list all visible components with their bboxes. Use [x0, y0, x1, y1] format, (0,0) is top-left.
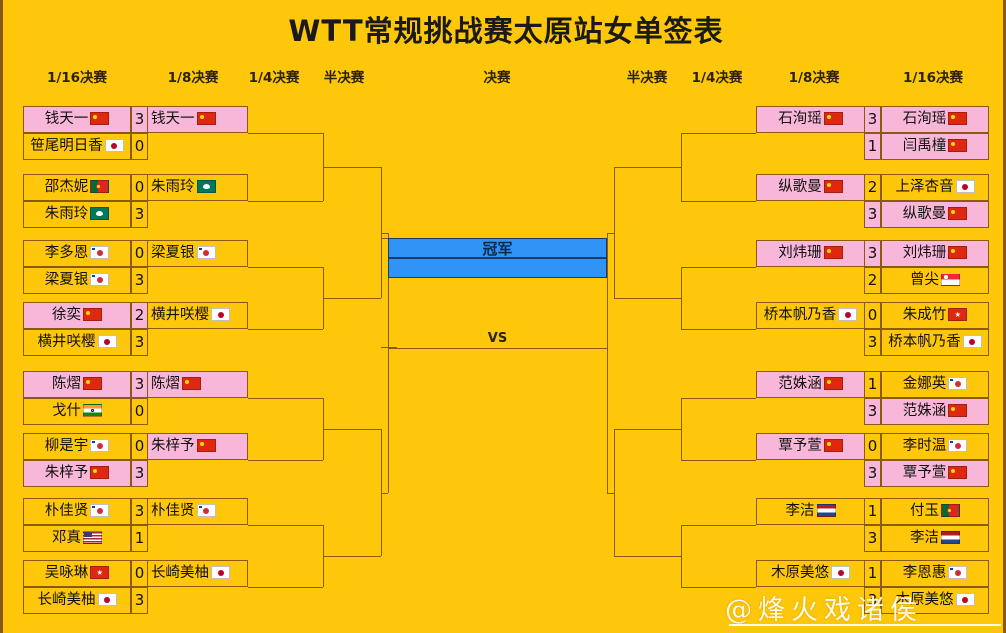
right-qf-stem-bot-2 [681, 460, 756, 461]
right-r16-player[interactable]: 范姝涵 [881, 398, 989, 425]
player-name: 金娜英 [903, 377, 947, 392]
right-qf-rail-3 [681, 525, 682, 587]
watermark-underline [729, 624, 1001, 626]
flag-pt-icon [941, 504, 960, 517]
right-r16-score: 2 [864, 174, 881, 201]
right-r16-player[interactable]: 付玉 [881, 498, 989, 525]
player-name: 徐奕 [52, 308, 81, 323]
left-r16-score: 0 [131, 560, 148, 587]
flag-kr-icon [197, 246, 216, 259]
left-r8-player[interactable]: 钱天一 [148, 106, 248, 133]
left-r16-player[interactable]: 邓真 [23, 525, 131, 552]
champion-slot-top[interactable]: 冠军 [388, 238, 607, 258]
right-qf-stem-bot-0 [681, 201, 756, 202]
right-r16-player[interactable]: 金娜英 [881, 371, 989, 398]
left-qf-stem-top-1 [248, 267, 323, 268]
flag-cn-icon [90, 112, 109, 125]
left-qf-stem-bot-3 [248, 587, 323, 588]
player-name: 朱梓予 [45, 466, 89, 481]
player-name: 梁夏银 [45, 273, 89, 288]
left-r16-score: 0 [131, 433, 148, 460]
flag-cn-icon [197, 112, 216, 125]
left-r16-player[interactable]: 徐奕 [23, 302, 131, 329]
player-name: 李多恩 [45, 246, 89, 261]
player-name: 横井咲樱 [151, 308, 209, 323]
player-name: 覃予萱 [903, 466, 947, 481]
player-name: 长崎美柚 [38, 593, 96, 608]
right-r16-player[interactable]: 李洁 [881, 525, 989, 552]
left-sf-out-top [381, 233, 388, 234]
player-name: 石洵瑶 [778, 112, 822, 127]
page-title: WTT常规挑战赛太原站女单签表 [3, 8, 1006, 50]
player-name: 李洁 [910, 531, 939, 546]
player-name: 纵歌曼 [903, 207, 947, 222]
right-qf-out-1 [614, 298, 681, 299]
right-qf-stem-top-2 [681, 398, 756, 399]
player-name: 朱梓予 [151, 439, 195, 454]
flag-cn-icon [948, 404, 967, 417]
flag-jp-icon [831, 566, 850, 579]
right-r16-player[interactable]: 李时温 [881, 433, 989, 460]
right-r16-score: 0 [864, 433, 881, 460]
round-header-right-3: 1/16决赛 [903, 66, 963, 86]
flag-us-icon [83, 531, 102, 544]
player-name: 曾尖 [910, 273, 939, 288]
flag-kr-icon [197, 504, 216, 517]
round-header-right-0: 半决赛 [627, 66, 668, 86]
left-r16-score: 3 [131, 106, 148, 133]
right-r16-score: 3 [864, 329, 881, 356]
player-name: 刘炜珊 [903, 246, 947, 261]
player-name: 陈熠 [151, 377, 180, 392]
left-r16-score: 2 [131, 302, 148, 329]
player-name: 朱雨玲 [151, 180, 195, 195]
left-qf-out-2 [323, 429, 381, 430]
round-header-left-2: 1/4决赛 [249, 66, 300, 86]
flag-jp-icon [211, 308, 230, 321]
player-name: 纵歌曼 [778, 180, 822, 195]
flag-pt-icon [90, 180, 109, 193]
flag-jp-icon [963, 335, 982, 348]
right-qf-stem-top-3 [681, 525, 756, 526]
left-r8-player[interactable]: 陈熠 [148, 371, 248, 398]
left-r16-score: 3 [131, 371, 148, 398]
player-name: 李恩惠 [903, 566, 947, 581]
flag-jp-icon [98, 593, 117, 606]
player-name: 李洁 [786, 504, 815, 519]
flag-cn-icon [824, 180, 843, 193]
player-name: 闫禹橦 [903, 139, 947, 154]
flag-hk-icon [90, 566, 109, 579]
flag-kr-icon [948, 439, 967, 452]
right-r16-score: 3 [864, 398, 881, 425]
flag-mo-icon [90, 207, 109, 220]
right-sf-rail-top [614, 167, 615, 298]
left-r16-player[interactable]: 陈熠 [23, 371, 131, 398]
left-r16-score: 1 [131, 525, 148, 552]
player-name: 桥本帆乃香 [764, 308, 837, 323]
right-qf-stem-bot-1 [681, 329, 756, 330]
right-qf-rail-2 [681, 398, 682, 460]
flag-cn-icon [948, 207, 967, 220]
left-qf-stem-bot-2 [248, 460, 323, 461]
right-r16-player[interactable]: 桥本帆乃香 [881, 329, 989, 356]
left-qf-stem-top-2 [248, 398, 323, 399]
player-name: 覃予萱 [778, 439, 822, 454]
player-name: 邓真 [52, 531, 81, 546]
flag-kr-icon [90, 273, 109, 286]
flag-cn-icon [948, 246, 967, 259]
bracket-canvas: WTT常规挑战赛太原站女单签表 1/16决赛1/8决赛1/4决赛半决赛决赛半决赛… [0, 0, 1006, 633]
champion-label: 冠军 [482, 238, 512, 259]
right-r16-score: 1 [864, 371, 881, 398]
flag-hk-icon [948, 308, 967, 321]
player-name: 朱成竹 [903, 308, 947, 323]
left-sf-out-bot [381, 493, 388, 494]
player-name: 朴佳贤 [151, 504, 195, 519]
player-name: 钱天一 [45, 112, 89, 127]
left-r16-score: 0 [131, 174, 148, 201]
flag-cn-icon [90, 466, 109, 479]
right-r16-player[interactable]: 朱成竹 [881, 302, 989, 329]
player-name: 邵杰妮 [45, 180, 89, 195]
flag-cn-icon [824, 377, 843, 390]
flag-nl-icon [941, 531, 960, 544]
flag-cn-icon [948, 139, 967, 152]
flag-cn-icon [824, 246, 843, 259]
round-header-left-0: 1/16决赛 [47, 66, 107, 86]
right-sf-rail-bot [614, 429, 615, 556]
player-name: 吴咏琳 [45, 566, 89, 581]
round-header-right-2: 1/8决赛 [789, 66, 840, 86]
flag-cn-icon [824, 439, 843, 452]
left-r16-score: 3 [131, 498, 148, 525]
watermark: @烽火戏诸侯 [725, 588, 923, 627]
round-header-right-1: 1/4决赛 [692, 66, 743, 86]
right-r16-score: 0 [864, 302, 881, 329]
right-sf-out-bot [607, 493, 614, 494]
right-r16-score: 1 [864, 133, 881, 160]
left-r16-player[interactable]: 梁夏银 [23, 267, 131, 294]
vs-label: VS [388, 331, 607, 346]
right-r16-score: 3 [864, 201, 881, 228]
round-header-left-1: 1/8决赛 [168, 66, 219, 86]
right-r8-player[interactable]: 范姝涵 [756, 371, 864, 398]
player-name: 付玉 [910, 504, 939, 519]
flag-cn-icon [182, 377, 201, 390]
left-r16-score: 3 [131, 460, 148, 487]
left-qf-stem-top-3 [248, 525, 323, 526]
right-r16-player[interactable]: 石洵瑶 [881, 106, 989, 133]
left-r16-score: 0 [131, 398, 148, 425]
flag-kr-icon [90, 439, 109, 452]
left-r16-player[interactable]: 李多恩 [23, 240, 131, 267]
player-name: 范姝涵 [903, 404, 947, 419]
player-name: 石洵瑶 [903, 112, 947, 127]
left-r16-player[interactable]: 长崎美柚 [23, 587, 131, 614]
player-name: 李时温 [903, 439, 947, 454]
left-r16-score: 0 [131, 133, 148, 160]
flag-cn-icon [83, 308, 102, 321]
right-r8-player[interactable]: 木原美悠 [756, 560, 864, 587]
round-header-center-0: 决赛 [484, 66, 511, 86]
left-qf-stem-top-0 [248, 133, 323, 134]
champion-slot-bottom[interactable] [388, 258, 607, 278]
right-r16-score: 3 [864, 106, 881, 133]
right-r16-player[interactable]: 李恩惠 [881, 560, 989, 587]
flag-cn-icon [948, 112, 967, 125]
player-name: 上泽杏音 [896, 180, 954, 195]
right-qf-out-2 [614, 429, 681, 430]
right-r8-player[interactable]: 李洁 [756, 498, 864, 525]
right-r16-player[interactable]: 纵歌曼 [881, 201, 989, 228]
player-name: 戈什 [52, 404, 81, 419]
left-r16-player[interactable]: 朱梓予 [23, 460, 131, 487]
right-r8-player[interactable]: 覃予萱 [756, 433, 864, 460]
left-r16-player[interactable]: 柳是宇 [23, 433, 131, 460]
flag-jp-icon [956, 180, 975, 193]
right-r8-player[interactable]: 桥本帆乃香 [756, 302, 864, 329]
left-qf-stem-bot-1 [248, 329, 323, 330]
flag-jp-icon [838, 308, 857, 321]
left-r16-player[interactable]: 钱天一 [23, 106, 131, 133]
player-name: 朱雨玲 [45, 207, 89, 222]
flag-jp-icon [105, 139, 124, 152]
left-r16-score: 0 [131, 240, 148, 267]
left-qf-out-0 [323, 167, 381, 168]
flag-cn-icon [83, 377, 102, 390]
left-r16-score: 3 [131, 587, 148, 614]
player-name: 笹尾明日香 [30, 139, 103, 154]
player-name: 桥本帆乃香 [888, 335, 961, 350]
flag-cn-icon [824, 112, 843, 125]
player-name: 陈熠 [52, 377, 81, 392]
player-name: 朴佳贤 [45, 504, 89, 519]
flag-kr-icon [948, 566, 967, 579]
right-qf-stem-top-0 [681, 133, 756, 134]
flag-kr-icon [948, 377, 967, 390]
left-r16-player[interactable]: 笹尾明日香 [23, 133, 131, 160]
right-r16-player[interactable]: 覃予萱 [881, 460, 989, 487]
right-qf-rail-1 [681, 267, 682, 329]
left-r16-score: 3 [131, 201, 148, 228]
right-r8-player[interactable]: 石洵瑶 [756, 106, 864, 133]
right-r16-player[interactable]: 上泽杏音 [881, 174, 989, 201]
left-r8-player[interactable]: 梁夏银 [148, 240, 248, 267]
right-r16-score: 2 [864, 267, 881, 294]
player-name: 柳是宇 [45, 439, 89, 454]
player-name: 木原美悠 [771, 566, 829, 581]
right-r16-score: 3 [864, 460, 881, 487]
flag-kr-icon [90, 504, 109, 517]
flag-jp-icon [956, 593, 975, 606]
left-qf-stem-bot-0 [248, 201, 323, 202]
left-r16-player[interactable]: 吴咏琳 [23, 560, 131, 587]
right-r16-player[interactable]: 闫禹橦 [881, 133, 989, 160]
left-r16-player[interactable]: 戈什 [23, 398, 131, 425]
right-r16-score: 3 [864, 240, 881, 267]
right-r16-player[interactable]: 曾尖 [881, 267, 989, 294]
player-name: 刘炜珊 [778, 246, 822, 261]
player-name: 范姝涵 [778, 377, 822, 392]
right-r16-score: 1 [864, 560, 881, 587]
right-qf-out-3 [614, 556, 681, 557]
left-qf-out-3 [323, 556, 381, 557]
player-name: 梁夏银 [151, 246, 195, 261]
right-qf-rail-0 [681, 133, 682, 201]
left-r16-player[interactable]: 朱雨玲 [23, 201, 131, 228]
flag-jp-icon [98, 335, 117, 348]
left-qf-out-1 [323, 298, 381, 299]
right-final-rail [607, 233, 608, 493]
player-name: 钱天一 [151, 112, 195, 127]
right-qf-stem-top-1 [681, 267, 756, 268]
player-name: 横井咲樱 [38, 335, 96, 350]
left-r8-player[interactable]: 长崎美柚 [148, 560, 248, 587]
right-r8-player[interactable]: 刘炜珊 [756, 240, 864, 267]
left-r16-player[interactable]: 横井咲樱 [23, 329, 131, 356]
flag-sg-icon [941, 273, 960, 286]
flag-in-icon [83, 404, 102, 417]
flag-cn-icon [197, 439, 216, 452]
right-r16-player[interactable]: 刘炜珊 [881, 240, 989, 267]
flag-mo-icon [197, 180, 216, 193]
left-r8-player[interactable]: 朱雨玲 [148, 174, 248, 201]
player-name: 长崎美柚 [151, 566, 209, 581]
right-r8-player[interactable]: 纵歌曼 [756, 174, 864, 201]
left-r16-score: 3 [131, 329, 148, 356]
right-qf-out-0 [614, 167, 681, 168]
right-r16-score: 1 [864, 498, 881, 525]
right-r16-score: 3 [864, 525, 881, 552]
final-bottom-edge [388, 348, 607, 349]
flag-cn-icon [948, 466, 967, 479]
flag-nl-icon [817, 504, 836, 517]
left-r16-player[interactable]: 邵杰妮 [23, 174, 131, 201]
flag-jp-icon [211, 566, 230, 579]
flag-kr-icon [90, 246, 109, 259]
left-r16-score: 3 [131, 267, 148, 294]
left-r16-player[interactable]: 朴佳贤 [23, 498, 131, 525]
left-r8-player[interactable]: 朴佳贤 [148, 498, 248, 525]
left-r8-player[interactable]: 朱梓予 [148, 433, 248, 460]
left-r8-player[interactable]: 横井咲樱 [148, 302, 248, 329]
round-header-left-3: 半决赛 [324, 66, 365, 86]
